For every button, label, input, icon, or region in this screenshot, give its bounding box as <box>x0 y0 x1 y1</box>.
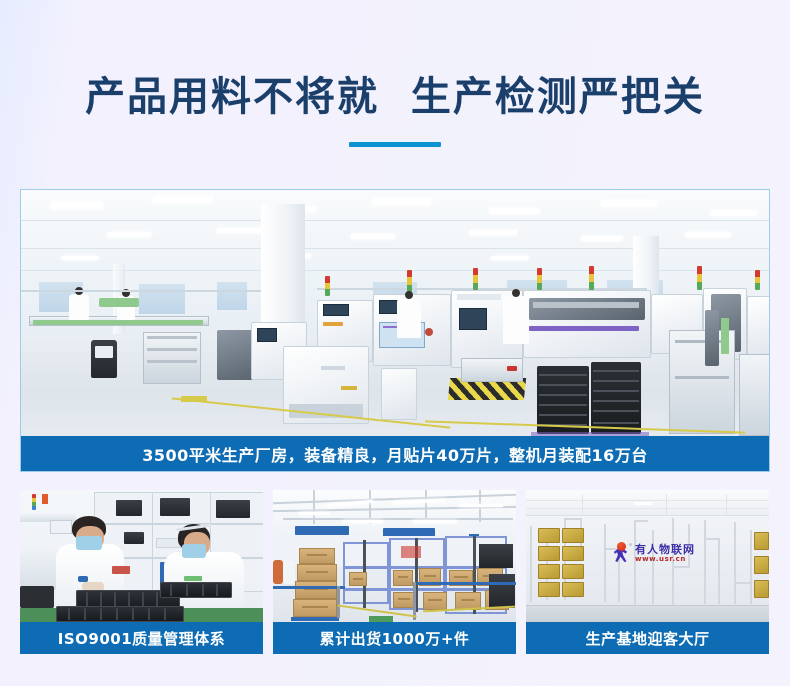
feature-card: 累计出货1000万+件 <box>273 490 516 654</box>
hero-card: 3500平米生产厂房，装备精良，月贴片40万片，整机月装配16万台 <box>20 189 770 472</box>
feature-card: ISO9001质量管理体系 <box>20 490 263 654</box>
card-photo <box>20 490 263 622</box>
warehouse-illustration <box>273 490 516 622</box>
lobby-wall-illustration: 有人物联网 www.usr.cn <box>526 490 769 622</box>
page-header: 产品用料不将就 生产检测严把关 <box>0 0 790 147</box>
usr-logo: 有人物联网 www.usr.cn <box>610 542 695 564</box>
card-photo: 有人物联网 www.usr.cn <box>526 490 769 622</box>
feature-card-row: ISO9001质量管理体系 <box>20 490 770 654</box>
smt-line-illustration <box>21 190 770 438</box>
card-caption: ISO9001质量管理体系 <box>20 622 263 654</box>
hero-photo <box>21 190 770 438</box>
usr-person-icon <box>610 542 632 564</box>
card-caption: 生产基地迎客大厅 <box>526 622 769 654</box>
logo-name-cn: 有人物联网 <box>635 544 695 555</box>
quality-inspection-illustration <box>20 490 263 622</box>
title-underline-accent <box>349 142 441 147</box>
hero-caption: 3500平米生产厂房，装备精良，月贴片40万片，整机月装配16万台 <box>21 436 769 471</box>
logo-url: www.usr.cn <box>635 556 695 563</box>
page-title: 产品用料不将就 生产检测严把关 <box>0 74 790 120</box>
card-photo <box>273 490 516 622</box>
feature-card: 有人物联网 www.usr.cn 生产基地迎客大厅 <box>526 490 769 654</box>
card-caption: 累计出货1000万+件 <box>273 622 516 654</box>
